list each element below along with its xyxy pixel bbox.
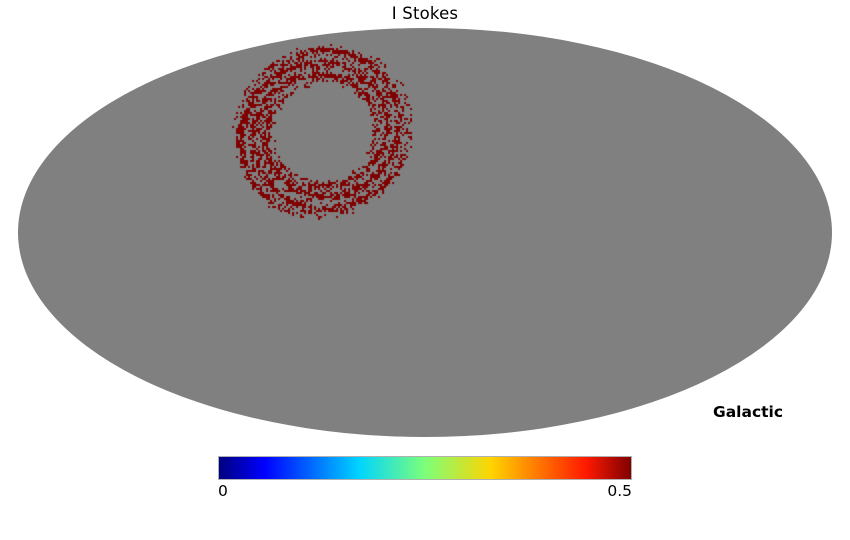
mollweide-projection-ellipse xyxy=(18,28,832,437)
page-title: I Stokes xyxy=(0,4,850,24)
colorbar-min-label: 0 xyxy=(218,481,228,501)
sky-map-pixels xyxy=(18,28,832,437)
colorbar-tick-labels: 0 0.5 xyxy=(218,481,632,503)
sky-map[interactable] xyxy=(18,28,832,437)
colorbar-max-label: 0.5 xyxy=(607,481,632,501)
colorbar-gradient-fill xyxy=(219,457,631,479)
colorbar-gradient-bar[interactable] xyxy=(218,456,632,480)
figure-canvas: I Stokes Galactic 0 0.5 xyxy=(0,0,850,540)
colorbar[interactable]: 0 0.5 xyxy=(218,456,632,503)
coordinate-system-label: Galactic xyxy=(713,403,783,421)
